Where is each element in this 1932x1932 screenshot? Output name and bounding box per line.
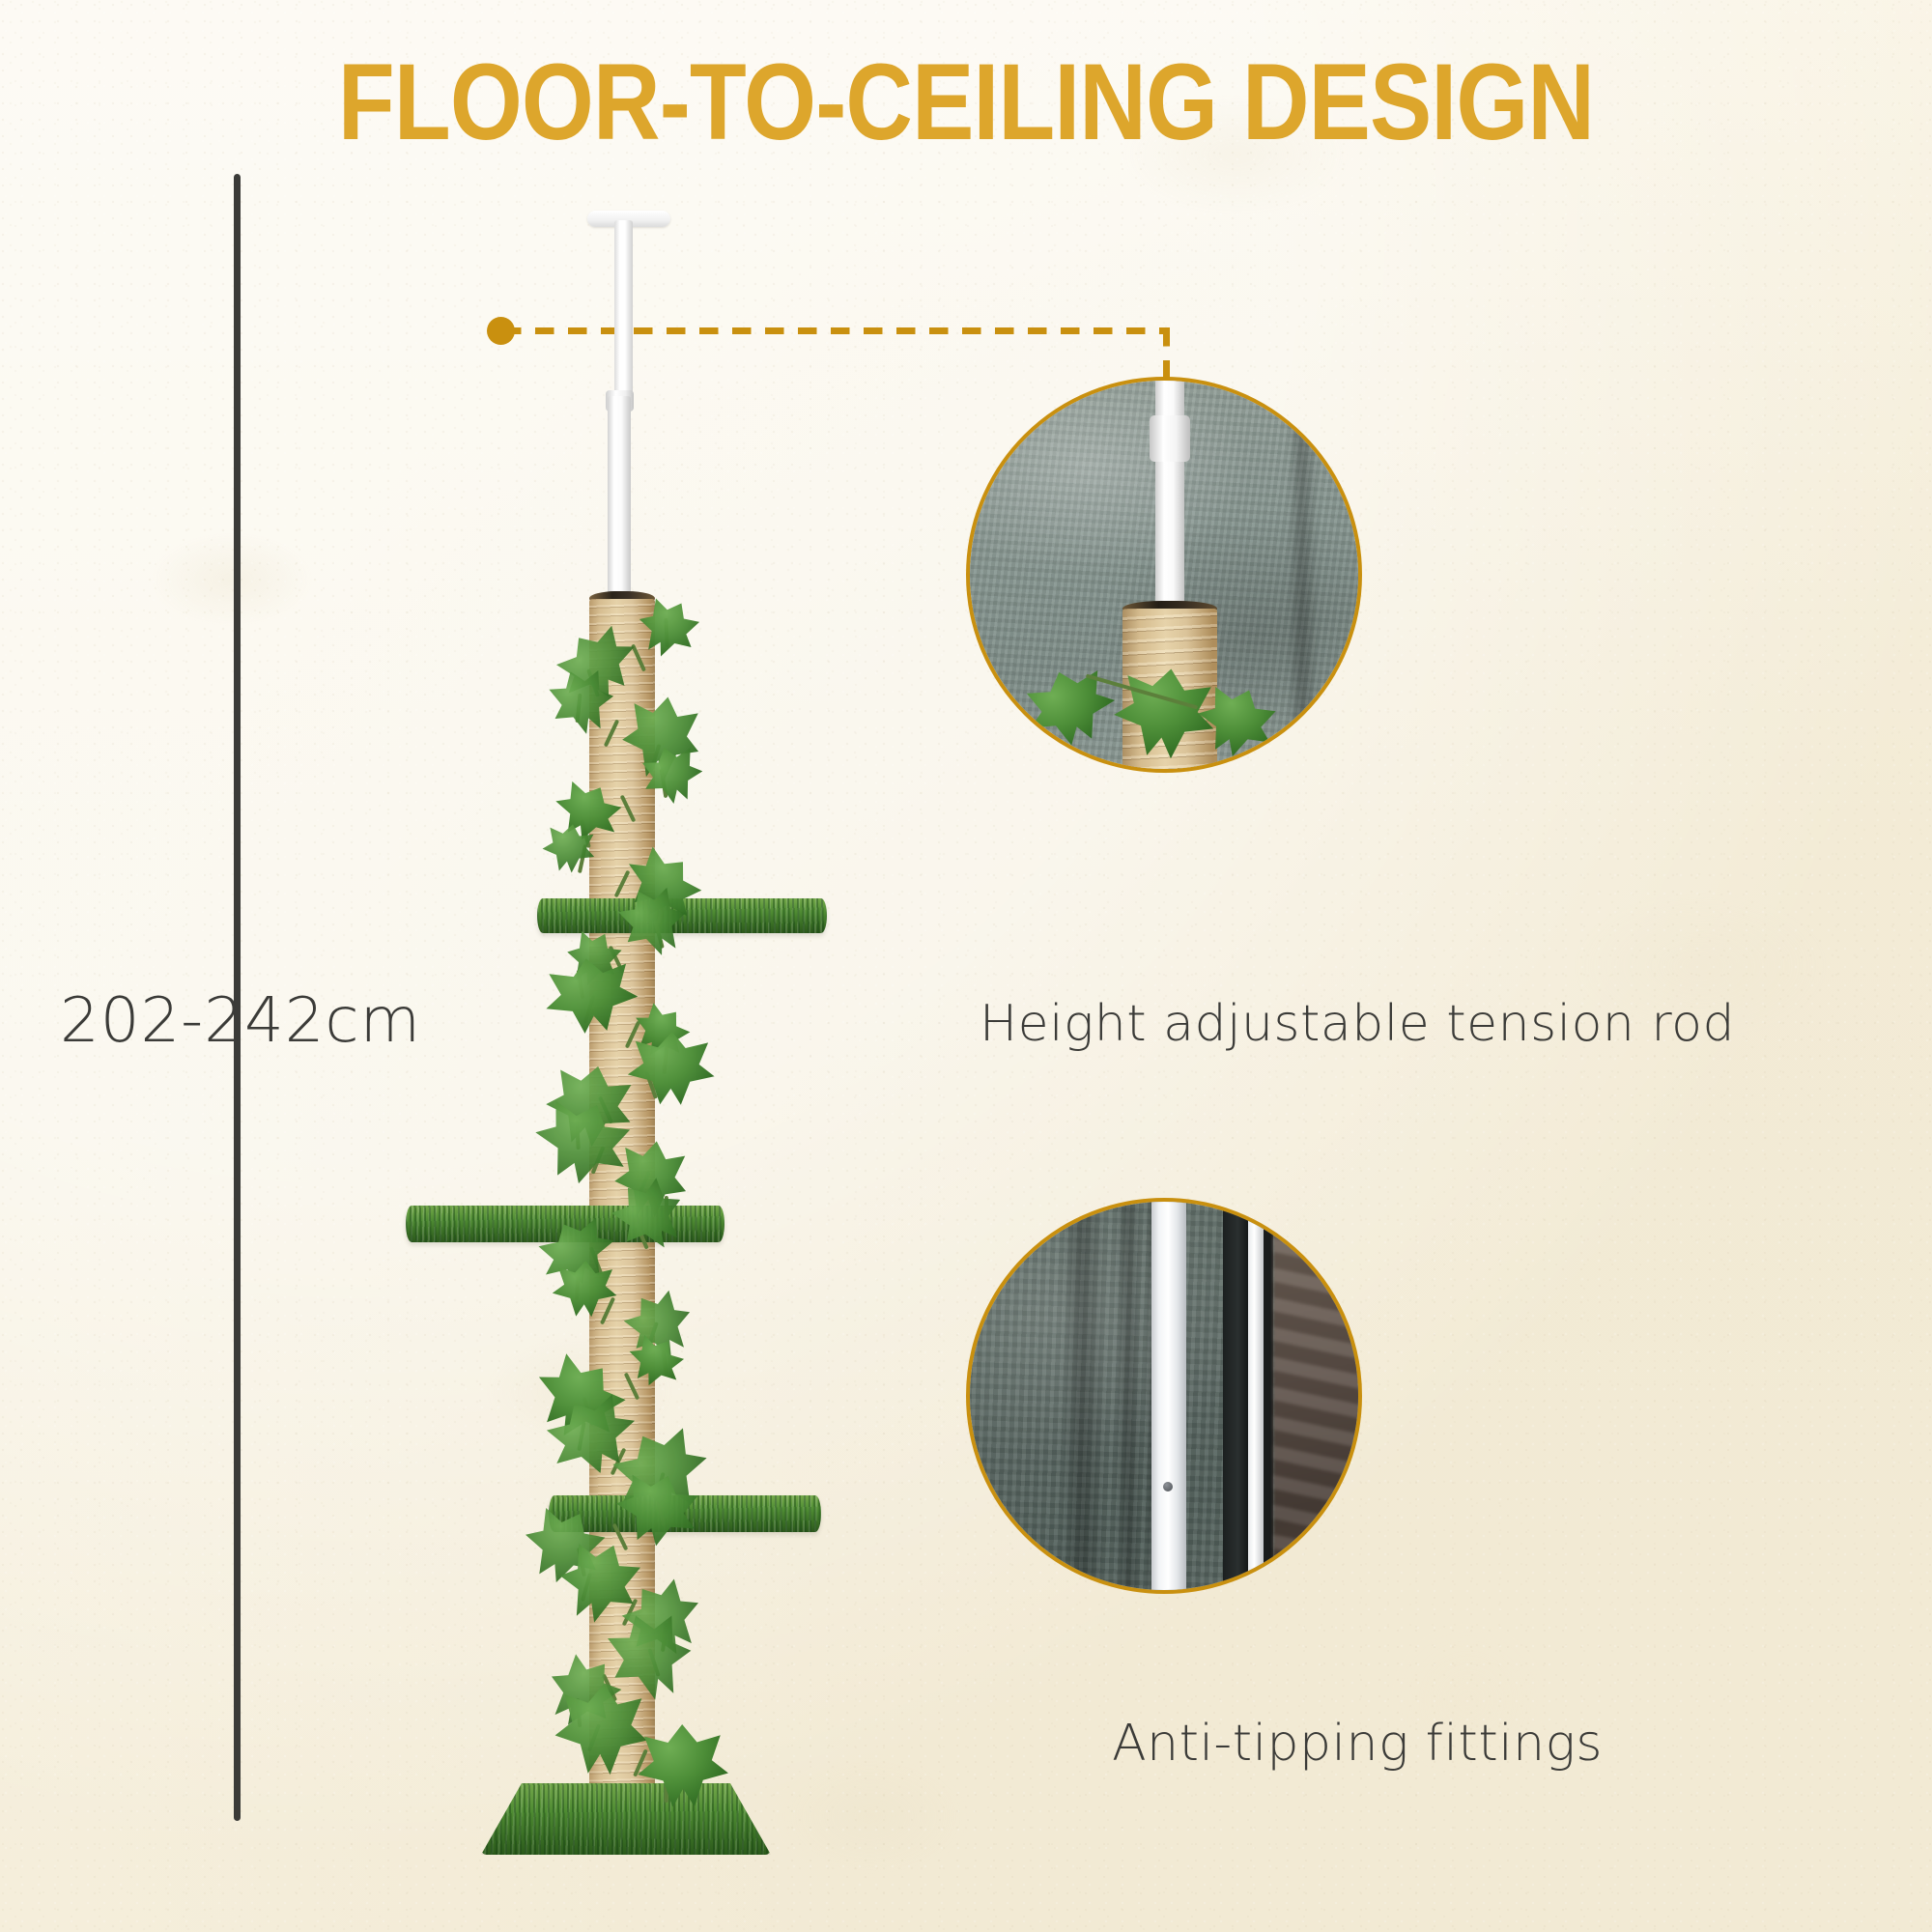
turf-base-mat [481, 1783, 771, 1855]
door-edge [1223, 1198, 1248, 1594]
wall-shadow [1289, 377, 1318, 773]
door-gap [1264, 1198, 1273, 1594]
background-room-blur [1273, 1198, 1362, 1594]
tension-rod-photo [1155, 377, 1184, 626]
infographic-canvas: FLOOR-TO-CEILING DESIGN 202-242cm Height… [0, 0, 1932, 1932]
tension-rod-lower [608, 396, 631, 609]
door-frame [1248, 1198, 1264, 1594]
detail-caption-tension-rod: Height adjustable tension rod [874, 995, 1840, 1053]
wall-shadow [1063, 1198, 1105, 1594]
strap-screw-icon [1163, 1482, 1173, 1492]
detail-photo-tension-rod [966, 377, 1362, 773]
product-illustration [0, 0, 1932, 1932]
detail-photo-anti-tipping [966, 1198, 1362, 1594]
detail-caption-anti-tipping: Anti-tipping fittings [874, 1715, 1840, 1773]
wall-shadow [1117, 1198, 1142, 1594]
tension-rod-upper [614, 220, 633, 404]
anti-tipping-strap [1151, 1198, 1186, 1594]
tension-rod-collar-photo [1150, 415, 1190, 462]
